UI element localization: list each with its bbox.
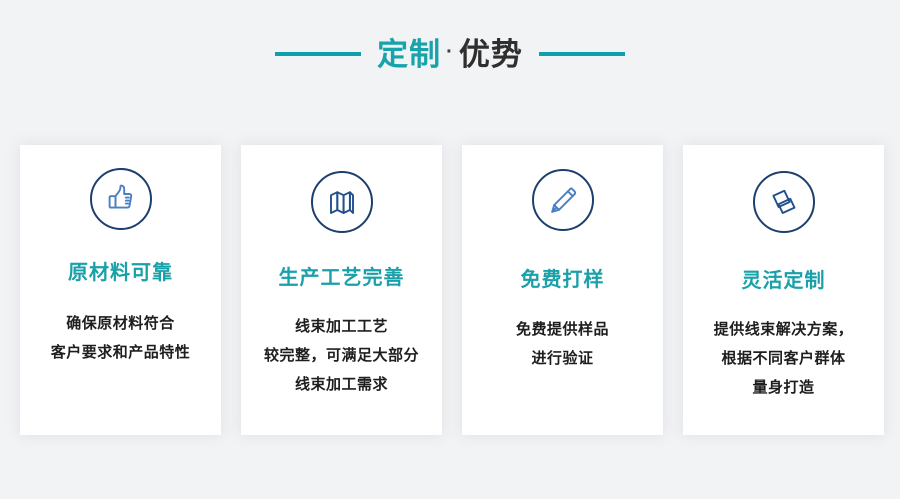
card-description: 免费提供样品 进行验证 [516, 315, 609, 373]
card-description-line: 提供线束解决方案， [714, 315, 854, 344]
page-title-accent: 定制 [377, 39, 441, 70]
card-description-line: 确保原材料符合 [51, 309, 191, 338]
feature-card-row: 原材料可靠 确保原材料符合 客户要求和产品特性 生产工艺完善 线束加工工艺 较完… [20, 145, 884, 435]
card-title: 免费打样 [521, 270, 605, 290]
card-description-line: 进行验证 [516, 344, 609, 373]
card-description-line: 线束加工需求 [264, 370, 419, 399]
card-description-line: 量身打造 [714, 373, 854, 402]
section-heading: 定制 · 优势 [0, 26, 900, 82]
card-title: 原材料可靠 [68, 263, 173, 283]
feature-card-flexible-customization[interactable]: 灵活定制 提供线束解决方案， 根据不同客户群体 量身打造 [683, 145, 884, 435]
card-description-line: 客户要求和产品特性 [51, 338, 191, 367]
icon-ring [311, 171, 373, 233]
feature-card-production-process[interactable]: 生产工艺完善 线束加工工艺 较完整，可满足大部分 线束加工需求 [241, 145, 442, 435]
page-title-plain: 优势 [459, 39, 523, 70]
feature-card-raw-material[interactable]: 原材料可靠 确保原材料符合 客户要求和产品特性 [20, 145, 221, 435]
card-description: 提供线束解决方案， 根据不同客户群体 量身打造 [714, 315, 854, 402]
card-description-line: 线束加工工艺 [264, 312, 419, 341]
thumbs-up-icon [104, 182, 138, 216]
card-description: 确保原材料符合 客户要求和产品特性 [51, 309, 191, 367]
folded-map-icon [325, 185, 359, 219]
page-title: 定制 · 优势 [377, 39, 523, 70]
heading-rule-left-icon [275, 52, 361, 56]
pencil-icon [546, 183, 580, 217]
card-title: 生产工艺完善 [279, 268, 405, 288]
icon-ring [90, 168, 152, 230]
icon-ring [753, 171, 815, 233]
card-title: 灵活定制 [742, 271, 826, 291]
feature-card-free-sample[interactable]: 免费打样 免费提供样品 进行验证 [462, 145, 663, 435]
page-title-separator: · [441, 42, 459, 62]
card-description: 线束加工工艺 较完整，可满足大部分 线束加工需求 [264, 312, 419, 399]
card-description-line: 免费提供样品 [516, 315, 609, 344]
card-description-line: 根据不同客户群体 [714, 344, 854, 373]
icon-ring [532, 169, 594, 231]
card-description-line: 较完整，可满足大部分 [264, 341, 419, 370]
stacked-sheets-icon [767, 185, 801, 219]
heading-rule-right-icon [539, 52, 625, 56]
